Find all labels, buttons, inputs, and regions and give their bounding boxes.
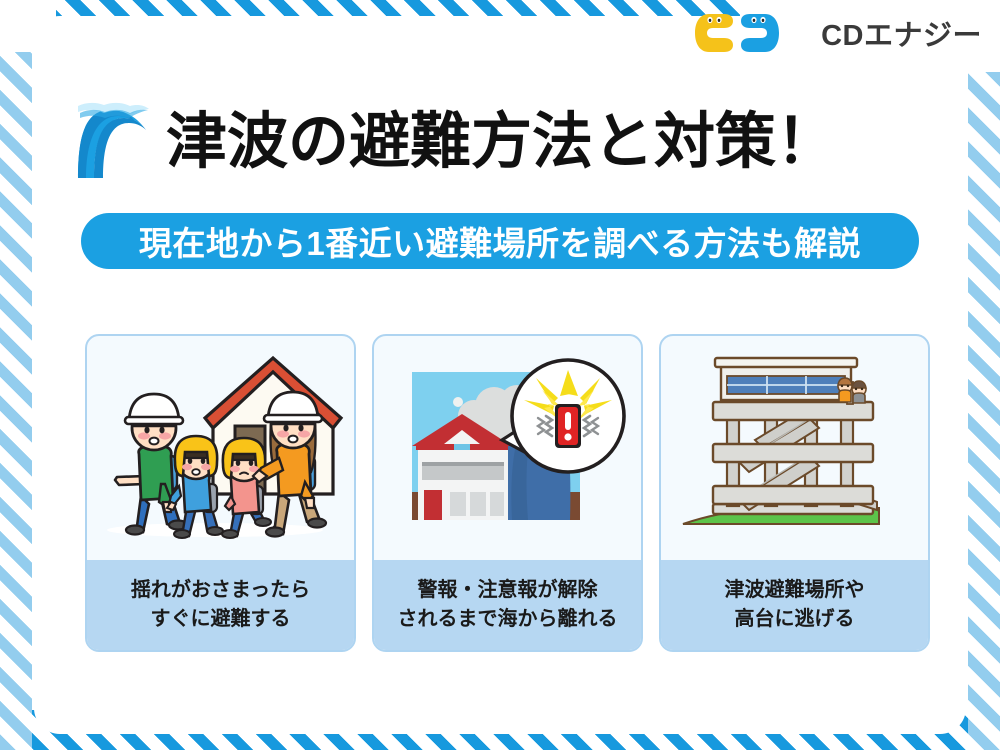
caption-line-1: 揺れがおさまったら — [131, 578, 310, 603]
tsunami-wave-warning-alert-illustration — [374, 336, 641, 560]
cd-energy-logo-mark — [693, 11, 811, 55]
caption-line-2: 高台に逃げる — [735, 607, 855, 632]
subtitle-text: 現在地から1番近い避難場所を調べる方法も解説 — [139, 217, 861, 265]
card-row: 揺れがおさまったら すぐに避難する — [85, 334, 931, 652]
caption-line-1: 津波避難場所や — [725, 578, 865, 603]
stripe-frame-right — [968, 0, 1000, 750]
card-caption: 揺れがおさまったら すぐに避難する — [87, 560, 354, 650]
subtitle-banner: 現在地から1番近い避難場所を調べる方法も解説 — [81, 213, 919, 269]
brand-logo-text: CDエナジー — [821, 12, 982, 54]
page-title: 津波の避難方法と対策！ — [166, 111, 837, 172]
family-evacuating-house-illustration — [87, 336, 354, 560]
card-caption: 津波避難場所や 高台に逃げる — [661, 560, 928, 650]
card-evacuate-immediately[interactable]: 揺れがおさまったら すぐに避難する — [85, 334, 356, 652]
brand-logo[interactable]: CDエナジー — [693, 8, 982, 58]
title-row: 津波の避難方法と対策！ — [72, 96, 942, 186]
tsunami-evacuation-poster: CDエナジー 津波の避難方法と対策！ 現在地から1番近い避難場所を調べる方法も解… — [0, 0, 1000, 750]
card-caption: 警報・注意報が解除 されるまで海から離れる — [374, 560, 641, 650]
card-stay-away-from-sea[interactable]: 警報・注意報が解除 されるまで海から離れる — [372, 334, 643, 652]
caption-line-1: 警報・注意報が解除 — [418, 578, 598, 603]
stripe-frame-left — [0, 0, 32, 750]
panel-corner-fill — [0, 0, 56, 52]
tsunami-wave-icon — [72, 100, 154, 182]
caption-line-2: すぐに避難する — [151, 607, 291, 632]
tsunami-evacuation-tower-illustration — [661, 336, 928, 560]
caption-line-2: されるまで海から離れる — [398, 607, 618, 632]
card-evacuation-tower[interactable]: 津波避難場所や 高台に逃げる — [659, 334, 930, 652]
